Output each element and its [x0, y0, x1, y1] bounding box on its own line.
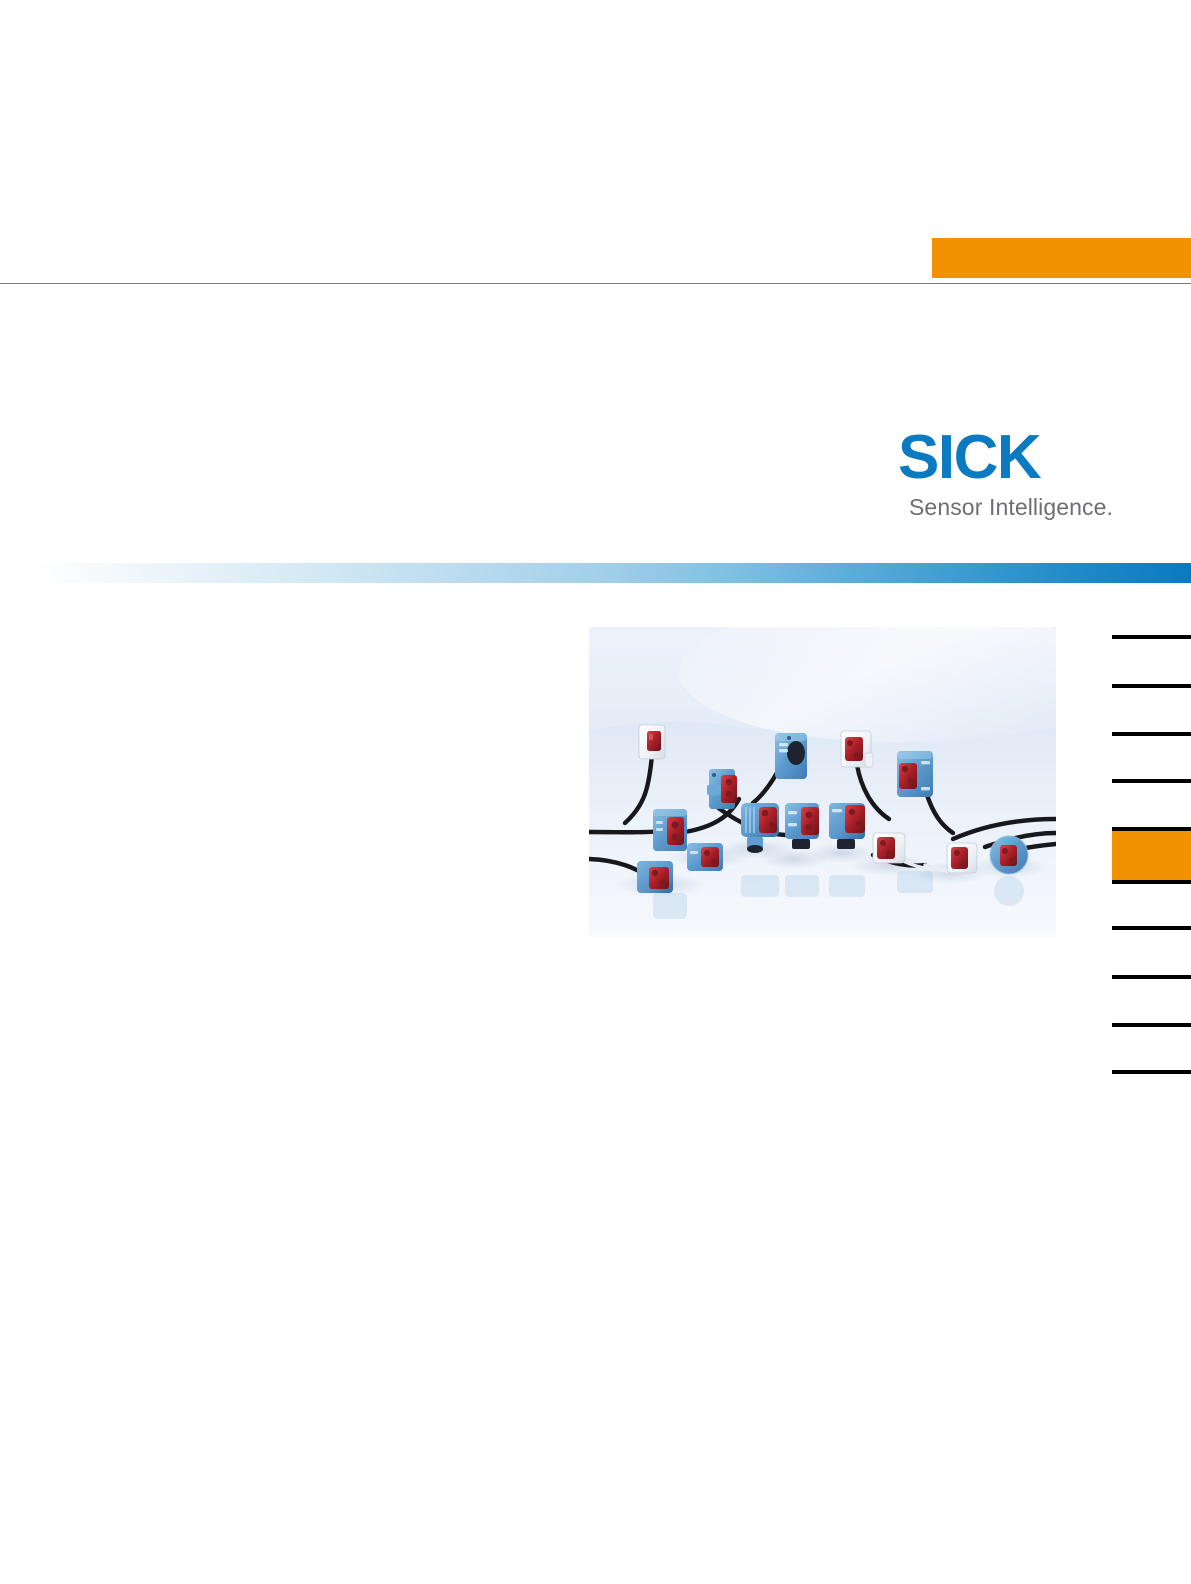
chapter-tab-6[interactable] [1112, 926, 1191, 930]
chapter-tab-7[interactable] [1112, 975, 1191, 979]
chapter-tab-3[interactable] [1112, 732, 1191, 736]
photoelectric-sensor-family-photo [589, 627, 1056, 937]
header-divider-rule [0, 283, 1191, 284]
catalogue-cover-page: SICK Sensor Intelligence. [0, 0, 1191, 1584]
sensor-blue-round-far-right [990, 836, 1028, 874]
sensor-blue-upper-right [897, 751, 933, 797]
chapter-tab-9[interactable] [1112, 1070, 1191, 1074]
sensor-white-upper-right [841, 731, 873, 767]
sensor-blue-tall-center [775, 733, 807, 779]
chapter-tab-5-active[interactable] [1112, 827, 1191, 884]
sensor-blue-lower-left [637, 861, 673, 893]
chapter-tab-rail[interactable] [1112, 0, 1191, 1584]
chapter-tab-1[interactable] [1112, 635, 1191, 639]
sensor-white-right-b [947, 843, 977, 873]
sensor-white-right-a [873, 833, 905, 863]
brand-logo: SICK Sensor Intelligence. [898, 430, 1118, 520]
sensor-white-upper-left [639, 725, 665, 759]
sensor-blue-flange-left [707, 769, 737, 809]
sensor-blue-left-mid [653, 809, 687, 851]
sick-tagline: Sensor Intelligence. [898, 494, 1113, 520]
chapter-tab-8[interactable] [1112, 1023, 1191, 1027]
sensor-blue-lower-midleft [687, 843, 723, 871]
chapter-tab-4[interactable] [1112, 779, 1191, 783]
sick-wordmark: SICK [898, 430, 1118, 486]
sensor-photo-illustration [589, 627, 1056, 937]
blue-gradient-band [0, 563, 1191, 583]
chapter-tab-2[interactable] [1112, 684, 1191, 688]
